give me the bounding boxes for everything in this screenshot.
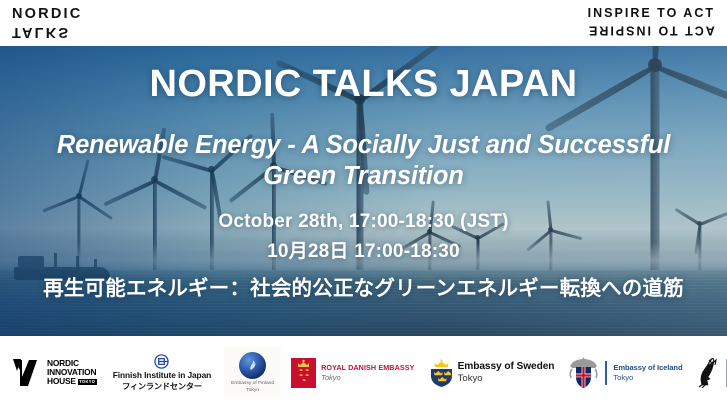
embassy-of-finland-line-2: Tokyo: [246, 388, 259, 394]
poster-header: NORDIC TALKS INSPIRE TO ACT ACT TO INSPI…: [0, 0, 727, 46]
iceland-coat-of-arms-icon: [568, 356, 599, 390]
finnish-lion-icon: [246, 359, 260, 373]
swedish-three-crowns-icon: [430, 358, 453, 387]
page-title: NORDIC TALKS JAPAN: [0, 63, 727, 106]
iceland-divider: [605, 361, 607, 385]
partner-logo-bar: NORDIC INNOVATION HOUSE TOKYO Finnish In…: [0, 336, 727, 409]
logo-finnish-institute-in-japan[interactable]: Finnish Institute in Japan フィンランドセンター: [113, 354, 211, 392]
logo-embassy-of-sweden[interactable]: Embassy of Sweden Tokyo: [430, 358, 555, 387]
event-date-english: October 28th, 17:00-18:30 (JST): [0, 211, 727, 233]
embassy-of-sweden-city: Tokyo: [458, 373, 555, 384]
embassy-of-iceland-city: Tokyo: [613, 373, 682, 382]
finnish-institute-line-1: Finnish Institute in Japan: [113, 370, 211, 380]
event-subtitle-japanese: 再生可能エネルギー：社会的公正なグリーンエネルギー転換への道筋: [0, 271, 727, 301]
finnish-institute-icon: [154, 354, 169, 369]
nordic-innovation-house-icon: [12, 357, 42, 389]
nih-tokyo-badge: TOKYO: [78, 379, 97, 385]
logo-embassy-of-finland[interactable]: Embassy of Finland Tokyo: [224, 347, 281, 397]
hero-text-block: NORDIC TALKS JAPAN Renewable Energy - A …: [0, 46, 727, 336]
logo-nordic-innovation-house[interactable]: NORDIC INNOVATION HOUSE TOKYO: [12, 357, 97, 389]
event-date-japanese: 10月28日 17:00-18:30: [0, 236, 727, 263]
nordic-talks-logo-line1: NORDIC: [12, 6, 82, 22]
royal-danish-embassy-city: Tokyo: [321, 373, 414, 382]
norwegian-lion-icon: [694, 358, 719, 388]
inspire-to-act-tagline: INSPIRE TO ACT ACT TO INSPIRE: [587, 6, 715, 37]
finnish-institute-line-2: フィンランドセンター: [122, 380, 202, 392]
nordic-talks-logo: NORDIC TALKS: [12, 6, 82, 40]
inspire-tagline-line1: INSPIRE TO ACT: [588, 6, 715, 20]
danish-coat-of-arms-icon: [291, 358, 316, 388]
royal-danish-embassy-name: ROYAL DANISH EMBASSY: [321, 363, 414, 372]
event-subtitle: Renewable Energy - A Socially Just and S…: [0, 130, 727, 192]
event-poster: NORDIC TALKS INSPIRE TO ACT ACT TO INSPI…: [0, 0, 727, 409]
embassy-of-finland-icon: [239, 352, 266, 379]
hero-background-photo: NORDIC TALKS JAPAN Renewable Energy - A …: [0, 46, 727, 336]
embassy-of-sweden-name: Embassy of Sweden: [458, 361, 555, 372]
inspire-tagline-line2: ACT TO INSPIRE: [587, 22, 715, 38]
nih-line-3: HOUSE: [47, 377, 76, 386]
nordic-innovation-house-wordmark: NORDIC INNOVATION HOUSE TOKYO: [47, 359, 97, 385]
embassy-of-iceland-name: Embassy of Iceland: [613, 363, 682, 372]
logo-embassy-of-iceland[interactable]: Embassy of Iceland Tokyo: [568, 356, 682, 390]
nordic-talks-logo-line2: TALKS: [12, 23, 82, 40]
logo-norwegian-embassy[interactable]: Norwegian Embassy Tokyo: [694, 358, 727, 388]
logo-royal-danish-embassy[interactable]: ROYAL DANISH EMBASSY Tokyo: [291, 358, 414, 388]
